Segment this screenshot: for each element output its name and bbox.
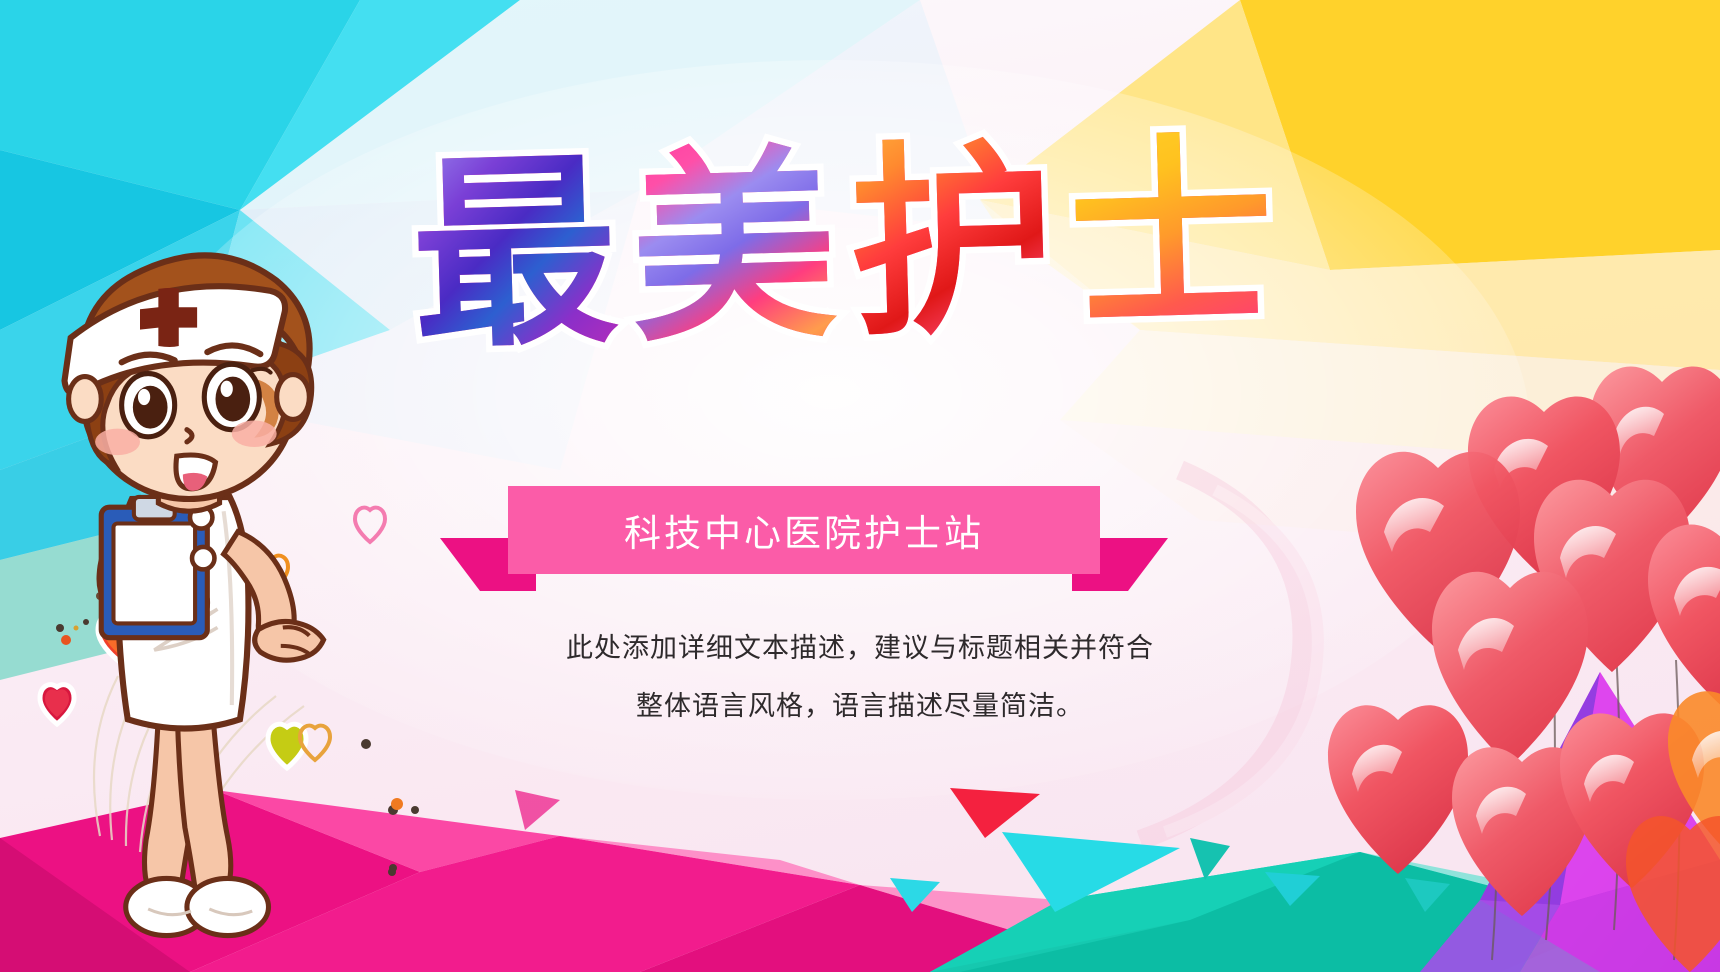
subtitle-banner-text: 科技中心医院护士站 [508, 486, 1100, 574]
description-line-2: 整体语言风格，语言描述尽量简洁。 [0, 678, 1720, 736]
presentation-slide: 最最美美护护士士 科技中心医院护士站 此处添加详细文本描述，建议与标题相关并符合… [0, 0, 1720, 972]
description-block: 此处添加详细文本描述，建议与标题相关并符合 整体语言风格，语言描述尽量简洁。 [0, 620, 1720, 736]
subtitle-ribbon: 科技中心医院护士站 [440, 486, 1168, 591]
description-line-1: 此处添加详细文本描述，建议与标题相关并符合 [0, 620, 1720, 678]
